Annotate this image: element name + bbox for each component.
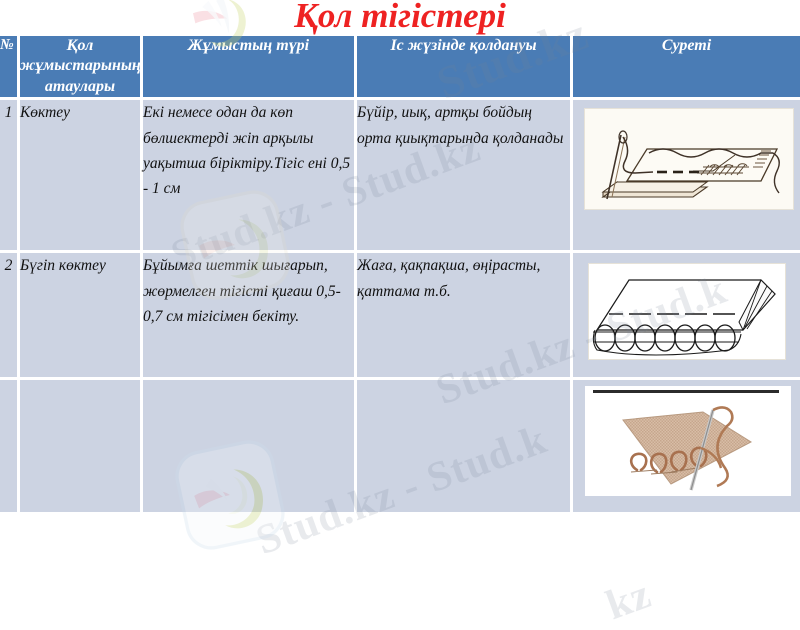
row-practical-use: Бүйір, иық, артқы бойдың орта қиықтарынд… [357,100,573,253]
table-header: № Қол жұмыстарының атаулары Жұмыстың түр… [0,36,800,100]
table-row: 2 Бүгіп көктеу Бұйымға шеттік шығарып, ж… [0,253,800,380]
row-practical-use [357,380,573,515]
row-practical-use: Жаға, қақпақша, өңірасты, қаттама т.б. [357,253,573,380]
row-picture-cell [573,100,800,253]
row-work-name: Көктеу [20,100,143,253]
row-work-type: Екі немесе одан да көп бөлшектерді жіп а… [143,100,357,253]
fabric-needle-loop-stitch-photo [585,386,791,496]
row-picture-cell [573,380,800,515]
row-picture-cell [573,253,800,380]
row-work-name [20,380,143,515]
header-number: № [0,36,20,100]
title-bar: Қол тігістері [0,0,800,36]
row-work-type: Бұйымға шеттік шығарып, жөрмелген тігіст… [143,253,357,380]
looped-overcast-stitch-diagram [588,263,786,360]
hand-stitches-table: № Қол жұмыстарының атаулары Жұмыстың түр… [0,36,800,515]
table-row [0,380,800,515]
running-basting-stitch-diagram [584,108,794,210]
row-number [0,380,20,515]
header-work-names: Қол жұмыстарының атаулары [20,36,143,100]
row-work-name: Бүгіп көктеу [20,253,143,380]
header-row: № Қол жұмыстарының атаулары Жұмыстың түр… [0,36,800,100]
table-row: 1 Көктеу Екі немесе одан да көп бөлшекте… [0,100,800,253]
header-practical-use: Іс жүзінде қолдануы [357,36,573,100]
watermark-text: kz [600,570,658,630]
page-title: Қол тігістері [0,0,800,36]
row-number: 1 [0,100,20,253]
table-body: 1 Көктеу Екі немесе одан да көп бөлшекте… [0,100,800,515]
row-work-type [143,380,357,515]
header-picture: Суреті [573,36,800,100]
row-number: 2 [0,253,20,380]
